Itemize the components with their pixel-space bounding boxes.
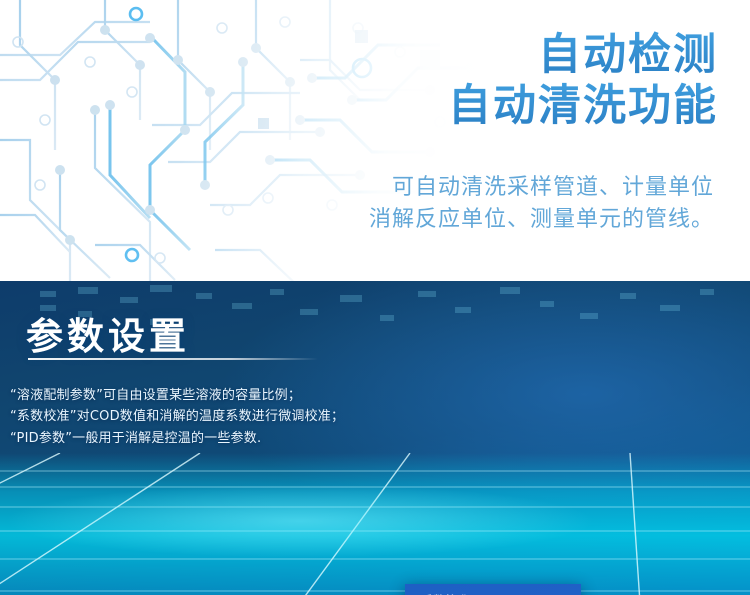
coefficient-calibration-panel: 系数校准 COD校准 乘系数 250 除系数 101 (405, 584, 581, 595)
title-divider (28, 358, 318, 360)
parameter-settings-section: 参数设置 “溶液配制参数”可自由设置某些溶液的容量比例； “系数校准”对COD数… (0, 281, 750, 595)
description-line-3: “PID参数”一般用于消解是控温的一些参数. (10, 428, 360, 449)
hero-subheadline: 可自动清洗采样管道、计量单位 消解反应单位、测量单元的管线。 (369, 172, 714, 236)
subheadline-line-2: 消解反应单位、测量单元的管线。 (369, 204, 714, 236)
description-line-1: “溶液配制参数”可自由设置某些溶液的容量比例； (10, 385, 360, 406)
floor-glow (0, 485, 750, 557)
section-description: “溶液配制参数”可自由设置某些溶液的容量比例； “系数校准”对COD数值和消解的… (10, 385, 360, 449)
hero-section: 自动检测 自动清洗功能 可自动清洗采样管道、计量单位 消解反应单位、测量单元的管… (0, 0, 750, 281)
hero-headline: 自动检测 自动清洗功能 (448, 30, 718, 131)
subheadline-line-1: 可自动清洗采样管道、计量单位 (369, 172, 714, 204)
headline-line-2: 自动清洗功能 (448, 81, 718, 132)
headline-line-1: 自动检测 (448, 30, 718, 81)
description-line-2: “系数校准”对COD数值和消解的温度系数进行微调校准； (10, 406, 360, 427)
page-title: 参数设置 (26, 306, 190, 360)
